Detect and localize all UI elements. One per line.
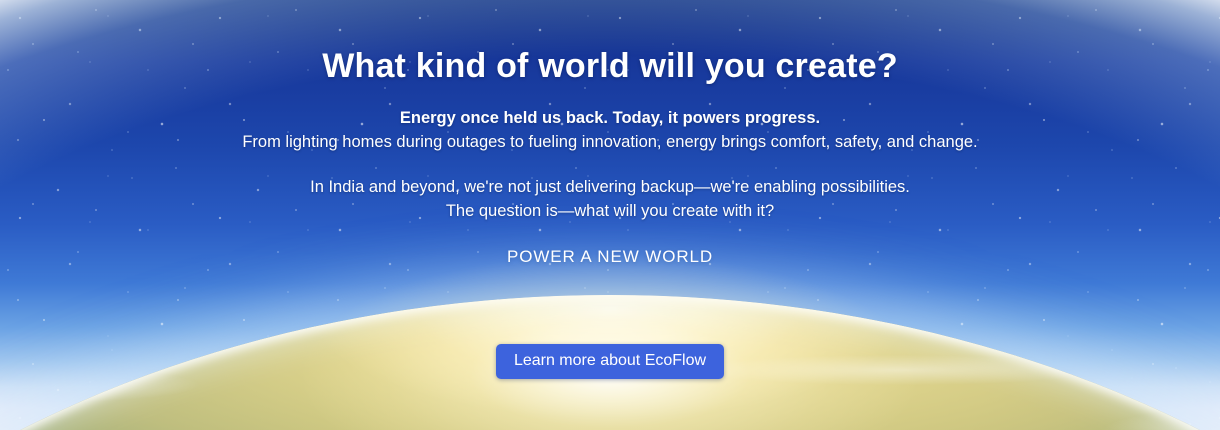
page-title: What kind of world will you create? <box>0 48 1220 85</box>
secondary-line-2: The question is—what will you create wit… <box>0 200 1220 223</box>
hero-content: What kind of world will you create? Ener… <box>0 0 1220 267</box>
learn-more-button[interactable]: Learn more about EcoFlow <box>496 344 724 379</box>
secondary-paragraph: In India and beyond, we're not just deli… <box>0 176 1220 223</box>
hero-banner: What kind of world will you create? Ener… <box>0 0 1220 430</box>
cta-container: Learn more about EcoFlow <box>0 344 1220 379</box>
secondary-line-1: In India and beyond, we're not just deli… <box>0 176 1220 199</box>
tagline: POWER A NEW WORLD <box>0 247 1220 267</box>
lead-line-1: Energy once held us back. Today, it powe… <box>0 107 1220 130</box>
lead-paragraph: Energy once held us back. Today, it powe… <box>0 107 1220 154</box>
lead-line-2: From lighting homes during outages to fu… <box>0 131 1220 154</box>
